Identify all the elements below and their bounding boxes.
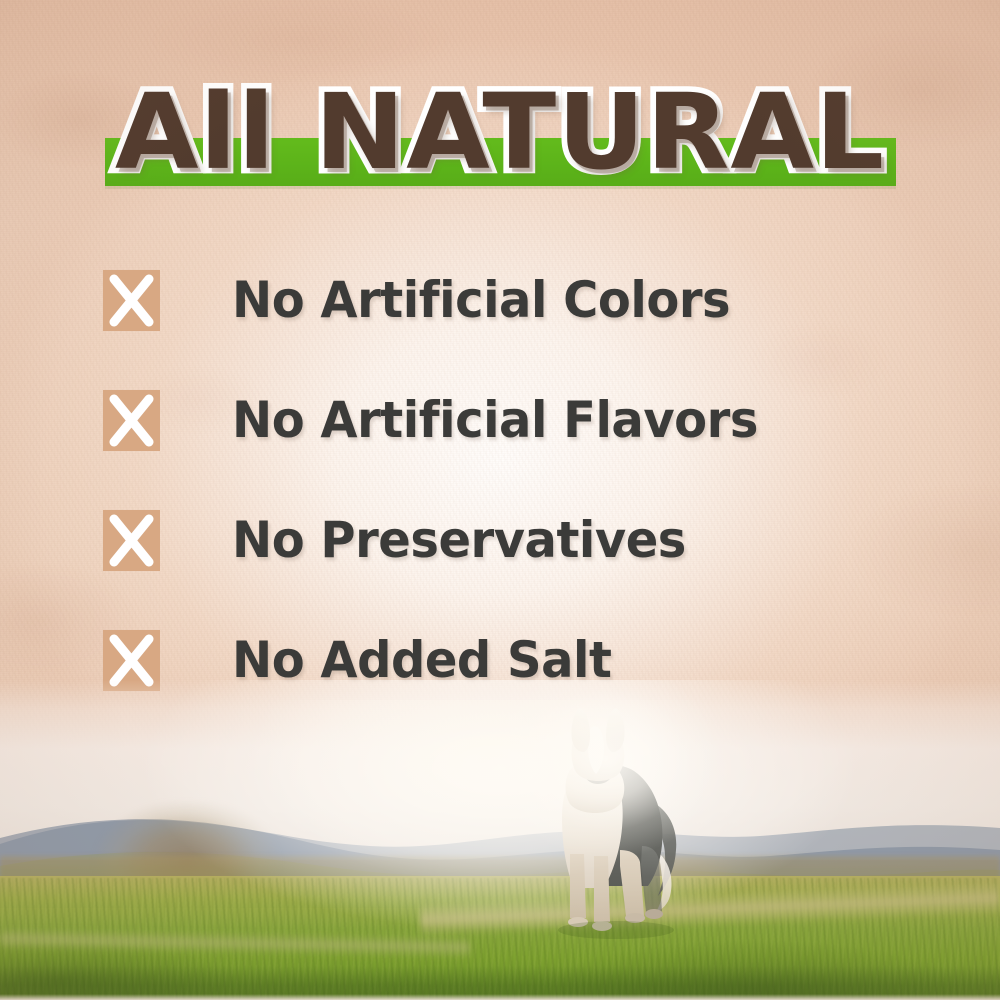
x-mark-icon (103, 390, 160, 451)
list-item: No Artificial Flavors (0, 360, 1000, 480)
photo-bottom-edge (0, 994, 1000, 1000)
page-title: All NATURAL (0, 62, 1000, 202)
feature-list: No Artificial Colors No Artificial Flavo… (0, 240, 1000, 720)
product-feature-poster: All NATURAL No Artificial Colors No Arti… (0, 0, 1000, 1000)
feature-label: No Artificial Flavors (232, 395, 758, 445)
x-mark-icon (103, 270, 160, 331)
list-item: No Artificial Colors (0, 240, 1000, 360)
feature-label: No Added Salt (232, 635, 611, 685)
feature-label: No Preservatives (232, 515, 686, 565)
dog-landscape-photo (0, 680, 1000, 1000)
x-mark-icon (103, 510, 160, 571)
list-item: No Preservatives (0, 480, 1000, 600)
headline-block: All NATURAL (0, 62, 1000, 202)
feature-label: No Artificial Colors (232, 275, 730, 325)
dog-icon (528, 704, 698, 946)
